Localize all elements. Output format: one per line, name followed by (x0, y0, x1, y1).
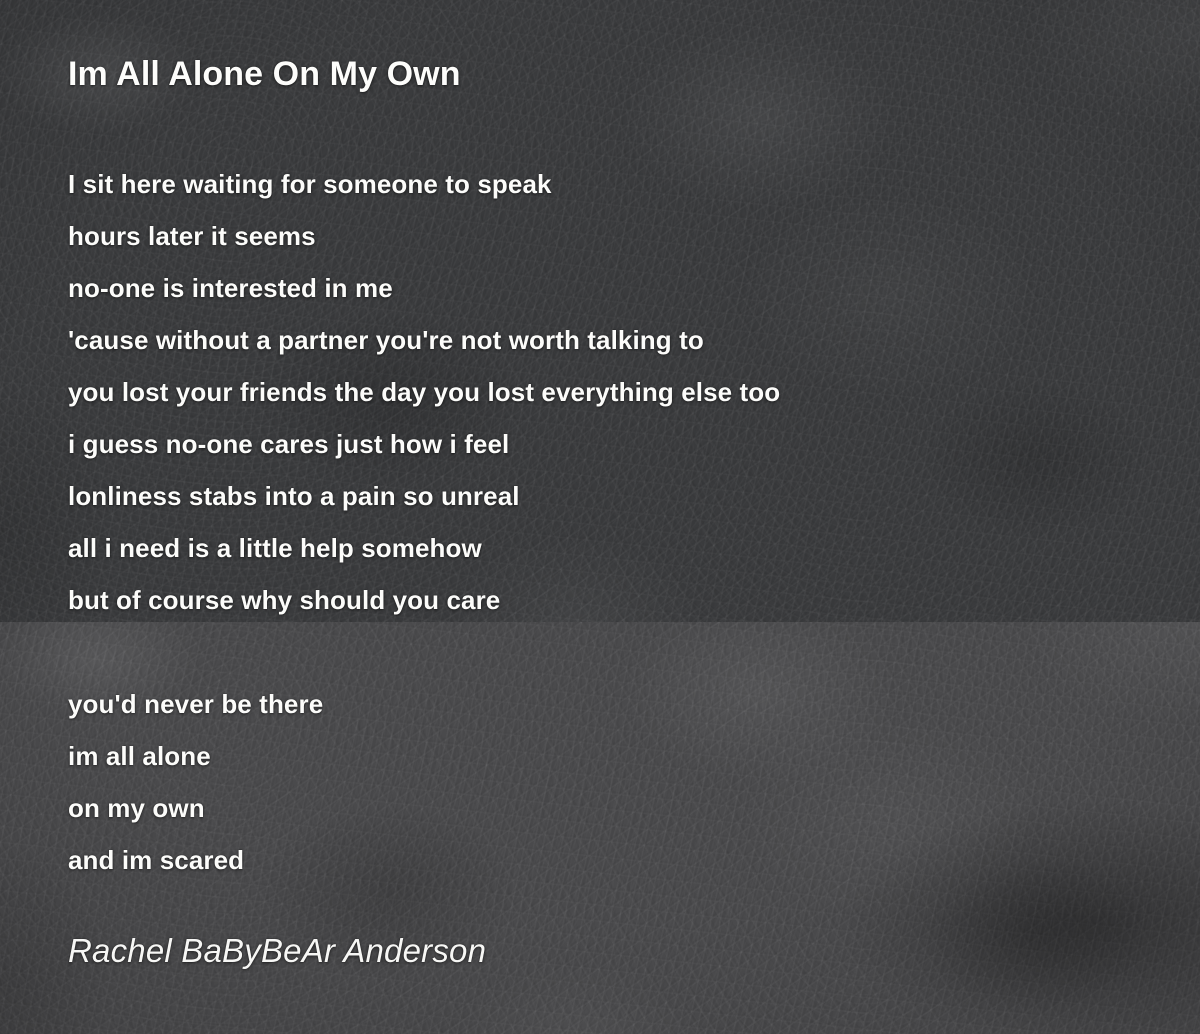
poem-stanza-1: I sit here waiting for someone to speak … (68, 158, 780, 626)
poem-author: Rachel BaByBeAr Anderson (68, 932, 486, 970)
poem-line: I sit here waiting for someone to speak (68, 158, 780, 210)
poem-title: Im All Alone On My Own (68, 55, 461, 94)
poem-line: and im scared (68, 834, 323, 886)
poem-line: on my own (68, 782, 323, 834)
poem-line: lonliness stabs into a pain so unreal (68, 470, 780, 522)
poem-line: im all alone (68, 730, 323, 782)
poem-content: Im All Alone On My Own I sit here waitin… (0, 0, 1200, 1034)
poem-image: Im All Alone On My Own I sit here waitin… (0, 0, 1200, 1034)
poem-stanza-2: you'd never be there im all alone on my … (68, 678, 323, 886)
poem-line: but of course why should you care (68, 574, 780, 626)
poem-line: no-one is interested in me (68, 262, 780, 314)
poem-line: i guess no-one cares just how i feel (68, 418, 780, 470)
poem-line: 'cause without a partner you're not wort… (68, 314, 780, 366)
poem-line: all i need is a little help somehow (68, 522, 780, 574)
poem-line: you'd never be there (68, 678, 323, 730)
poem-line: hours later it seems (68, 210, 780, 262)
poem-line: you lost your friends the day you lost e… (68, 366, 780, 418)
